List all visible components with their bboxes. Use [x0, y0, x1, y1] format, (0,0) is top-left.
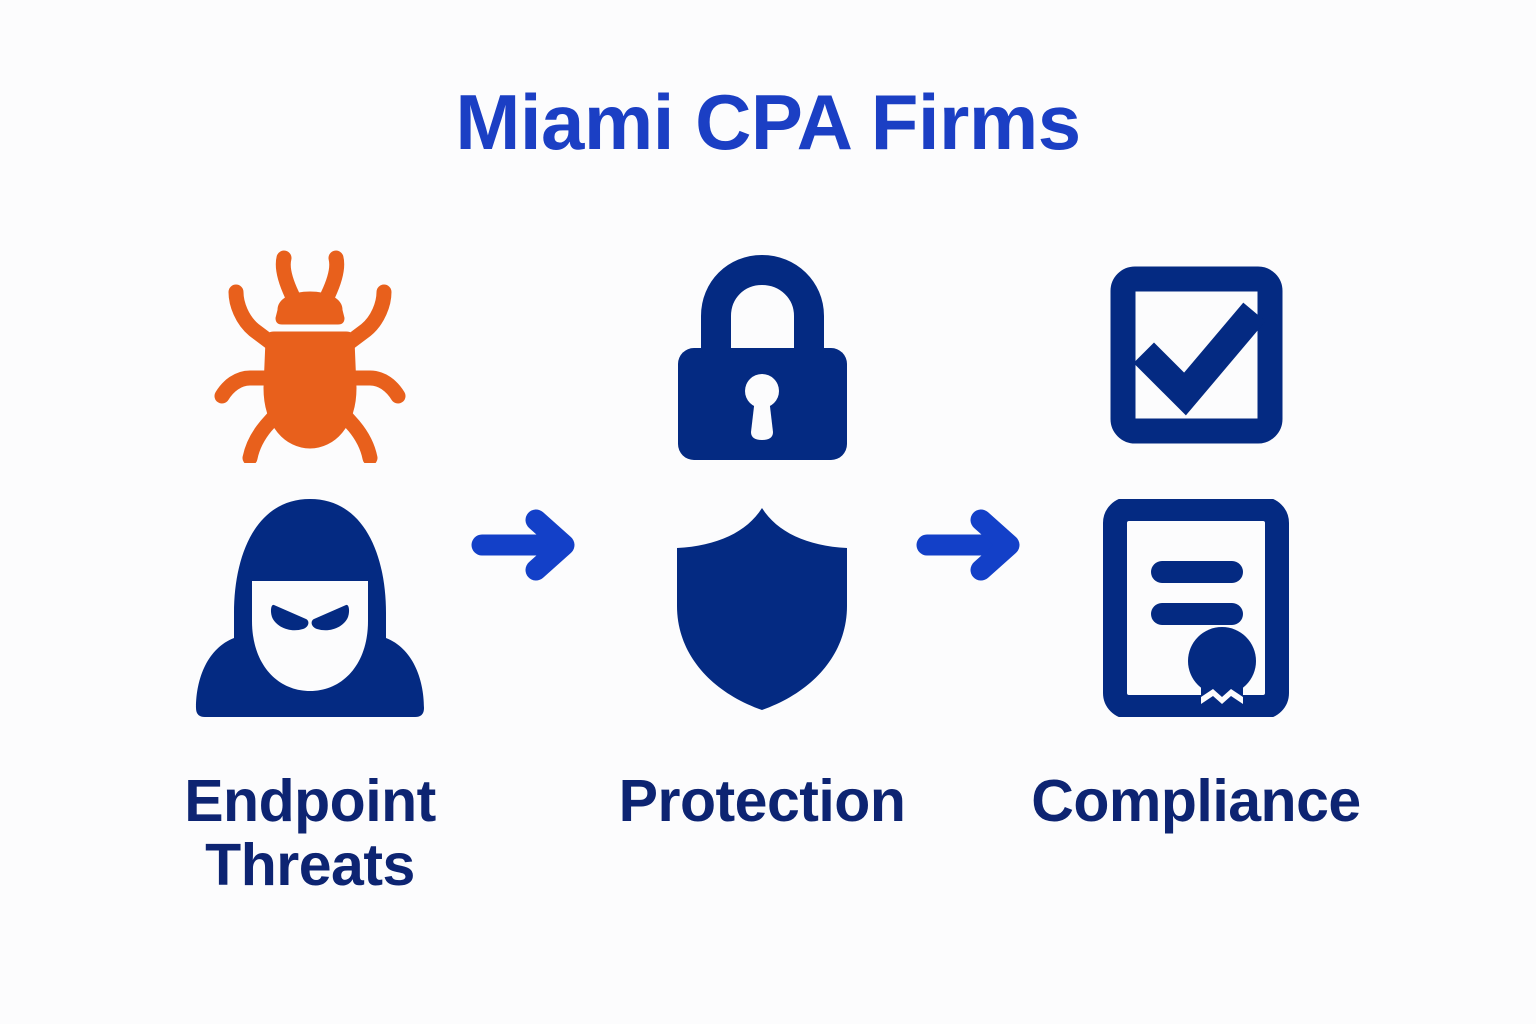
certificate-icon	[1101, 499, 1291, 717]
stage-label-protection: Protection	[572, 770, 952, 834]
flow-connector-1	[468, 505, 588, 585]
stage-label-line: Threats	[120, 834, 500, 898]
arrow-right-icon	[913, 505, 1033, 585]
hacker-icon-slot	[160, 485, 460, 730]
bug-icon-slot	[160, 230, 460, 480]
stage-label-line: Endpoint	[120, 770, 500, 834]
bug-icon	[210, 248, 410, 463]
checkbox-icon-slot	[1046, 230, 1346, 480]
padlock-icon-slot	[612, 230, 912, 480]
page-title: Miami CPA Firms	[0, 82, 1536, 164]
hacker-icon	[190, 493, 430, 723]
stage-icon-stack	[1046, 230, 1346, 735]
arrow-right-icon	[468, 505, 588, 585]
stage-label-endpoint-threats: Endpoint Threats	[120, 770, 500, 897]
padlock-icon	[670, 248, 855, 463]
shield-icon-slot	[612, 485, 912, 730]
stage-compliance: Compliance	[1046, 230, 1346, 950]
shield-icon	[667, 502, 857, 714]
flow-connector-2	[913, 505, 1033, 585]
checkbox-checked-icon	[1109, 265, 1284, 445]
stage-icon-stack	[160, 230, 460, 735]
certificate-icon-slot	[1046, 485, 1346, 730]
stage-label-line: Compliance	[1006, 770, 1386, 834]
stage-label-line: Protection	[572, 770, 952, 834]
stage-icon-stack	[612, 230, 912, 735]
stage-label-compliance: Compliance	[1006, 770, 1386, 834]
stage-protection: Protection	[612, 230, 912, 950]
infographic-canvas: Miami CPA Firms	[0, 0, 1536, 1024]
stage-endpoint-threats: Endpoint Threats	[160, 230, 460, 950]
